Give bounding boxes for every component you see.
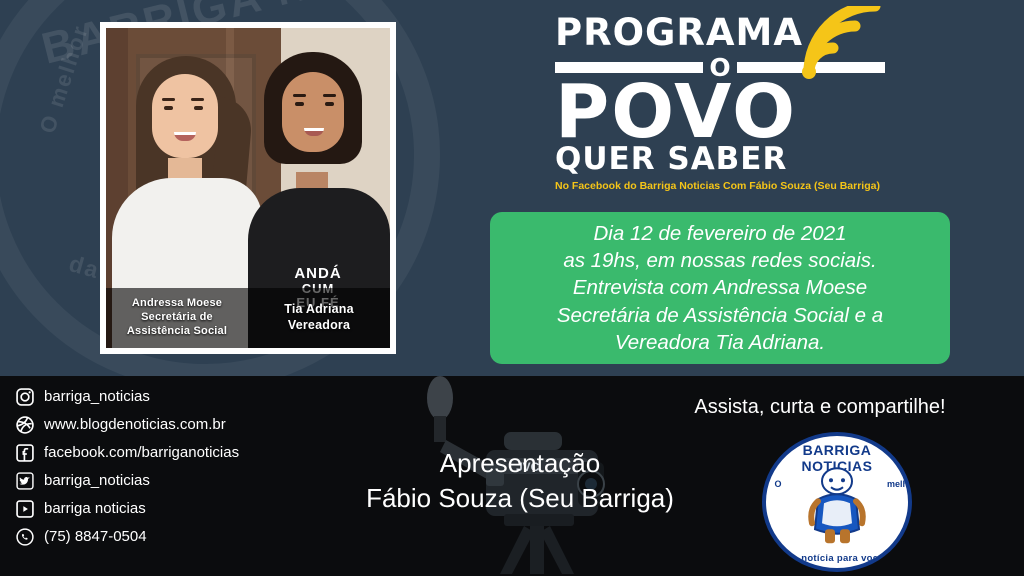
announcement-panel: Dia 12 de fevereiro de 2021 as 19hs, em … (490, 212, 950, 364)
social-label-facebook: facebook.com/barriganoticias (44, 444, 239, 461)
social-row-facebook[interactable]: facebook.com/barriganoticias (14, 442, 239, 463)
youtube-icon (14, 498, 35, 519)
barriga-mascot-icon (798, 465, 876, 545)
logo-left-text: O (769, 480, 787, 489)
dribbble-globe-icon (14, 414, 35, 435)
caption-person2-role1: Vereadora (248, 318, 390, 334)
social-label-youtube: barriga noticias (44, 500, 146, 517)
caption-person1: Andressa Moese Secretária de Assistência… (106, 288, 248, 348)
announcement-line-3: Entrevista com Andressa Moese (557, 274, 883, 301)
social-row-twitter[interactable]: barriga_noticias (14, 470, 239, 491)
social-label-whatsapp: (75) 8847-0504 (44, 528, 147, 545)
social-row-instagram[interactable]: barriga_noticias (14, 386, 239, 407)
presentation-label: Apresentação (310, 448, 730, 479)
person1-eye-left (164, 106, 173, 110)
announcement-line-4: Secretária de Assistência Social e a (557, 302, 883, 329)
person2-face (282, 72, 344, 152)
announcement-line-1: Dia 12 de fevereiro de 2021 (557, 220, 883, 247)
social-row-youtube[interactable]: barriga noticias (14, 498, 239, 519)
wifi-signal-icon (795, 6, 881, 80)
social-row-whatsapp[interactable]: (75) 8847-0504 (14, 526, 239, 547)
twitter-icon (14, 470, 35, 491)
caption-person2: Tia Adriana Vereadora (248, 288, 390, 348)
whatsapp-icon (14, 526, 35, 547)
person1-brow-left (162, 98, 175, 101)
caption-person1-role1: Secretária de (106, 311, 248, 325)
caption-person2-name: Tia Adriana (248, 302, 390, 318)
promotional-poster: BARRIGA NOTICIAS O melhor da notícia par… (0, 0, 1024, 576)
logo-bottom-text: da notícia para você! (766, 553, 908, 564)
title-subtitle: No Facebook do Barriga Noticias Com Fábi… (555, 180, 885, 192)
facebook-icon (14, 442, 35, 463)
person2-eye-left (295, 102, 304, 106)
logo-right-text: melhor (887, 480, 905, 489)
presentation-block: Apresentação Fábio Souza (Seu Barriga) (310, 448, 730, 514)
person1-eye-right (194, 106, 203, 110)
title-povo: POVO (555, 78, 885, 146)
photo-caption-bar: Andressa Moese Secretária de Assistência… (106, 288, 390, 348)
guest-photo: ANDÁ CUM EU FÉ Andressa Moese Secretária… (100, 22, 396, 354)
person1-brow-right (191, 98, 204, 101)
instagram-icon (14, 386, 35, 407)
person2-eye-right (325, 102, 334, 106)
person1-face (152, 74, 218, 158)
barriga-noticias-logo: BARRIGA NOTICIAS O melhor da notícia par… (762, 432, 912, 572)
caption-person1-name: Andressa Moese (106, 297, 248, 311)
announcement-line-5: Vereadora Tia Adriana. (557, 329, 883, 356)
title-quer-saber: QUER SABER (555, 144, 885, 175)
photo-image: ANDÁ CUM EU FÉ Andressa Moese Secretária… (106, 28, 390, 348)
social-label-twitter: barriga_noticias (44, 472, 150, 489)
presenter-name: Fábio Souza (Seu Barriga) (310, 483, 730, 514)
social-label-website: www.blogdenoticias.com.br (44, 416, 226, 433)
social-row-website[interactable]: www.blogdenoticias.com.br (14, 414, 239, 435)
poster-top-section: BARRIGA NOTICIAS O melhor da notícia par… (0, 0, 1024, 376)
caption-person1-role2: Assistência Social (106, 325, 248, 339)
assista-text: Assista, curta e compartilhe! (640, 396, 1000, 419)
social-links-list: barriga_noticias www.blogdenoticias.com.… (14, 386, 239, 547)
social-label-instagram: barriga_noticias (44, 388, 150, 405)
person2-brow-right (323, 94, 336, 97)
person2-brow-left (293, 94, 306, 97)
announcement-text: Dia 12 de fevereiro de 2021 as 19hs, em … (549, 220, 891, 356)
announcement-line-2: as 19hs, em nossas redes sociais. (557, 247, 883, 274)
shirt-line-1: ANDÁ (272, 266, 364, 282)
